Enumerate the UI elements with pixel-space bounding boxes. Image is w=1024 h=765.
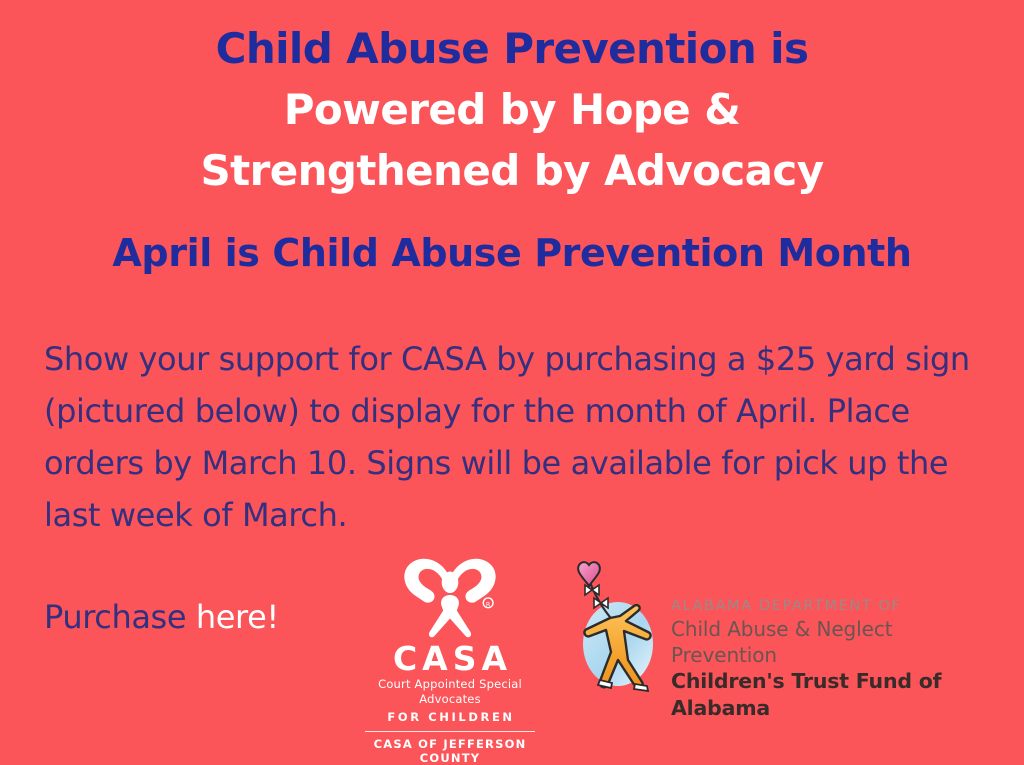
casa-chapter-name: CASA OF JEFFERSON COUNTY bbox=[352, 737, 548, 765]
child-with-heart-balloon-icon bbox=[556, 556, 674, 692]
ctf-text-block: ALABAMA DEPARTMENT OF Child Abuse & Negl… bbox=[671, 596, 991, 722]
ctf-line-department: ALABAMA DEPARTMENT OF bbox=[671, 596, 991, 616]
headline-block: Child Abuse Prevention is Powered by Hop… bbox=[0, 18, 1024, 201]
ctf-line-fund: Children's Trust Fund of Alabama bbox=[671, 668, 991, 722]
ctf-alabama-logo: ALABAMA DEPARTMENT OF Child Abuse & Negl… bbox=[556, 556, 996, 696]
flyer-canvas: Child Abuse Prevention is Powered by Hop… bbox=[0, 0, 1024, 745]
purchase-label: Purchase bbox=[44, 598, 196, 636]
casa-tagline: Court Appointed Special Advocates bbox=[352, 677, 548, 707]
headline-line-2: Powered by Hope & bbox=[0, 79, 1024, 140]
headline-line-3: Strengthened by Advocacy bbox=[0, 140, 1024, 201]
purchase-line: Purchase here! bbox=[44, 596, 279, 638]
purchase-here-link[interactable]: here! bbox=[196, 598, 279, 636]
casa-divider bbox=[365, 731, 535, 732]
casa-heart-child-icon: R bbox=[395, 552, 505, 640]
casa-wordmark: CASA bbox=[352, 642, 548, 676]
body-paragraph: Show your support for CASA by purchasing… bbox=[44, 333, 989, 541]
ctf-line-program: Child Abuse & Neglect Prevention bbox=[671, 616, 991, 668]
headline-line-1: Child Abuse Prevention is bbox=[0, 18, 1024, 79]
subheading-month: April is Child Abuse Prevention Month bbox=[0, 227, 1024, 279]
casa-for-children: FOR CHILDREN bbox=[352, 709, 548, 725]
svg-text:R: R bbox=[486, 601, 491, 608]
casa-logo: R CASA Court Appointed Special Advocates… bbox=[352, 552, 548, 724]
